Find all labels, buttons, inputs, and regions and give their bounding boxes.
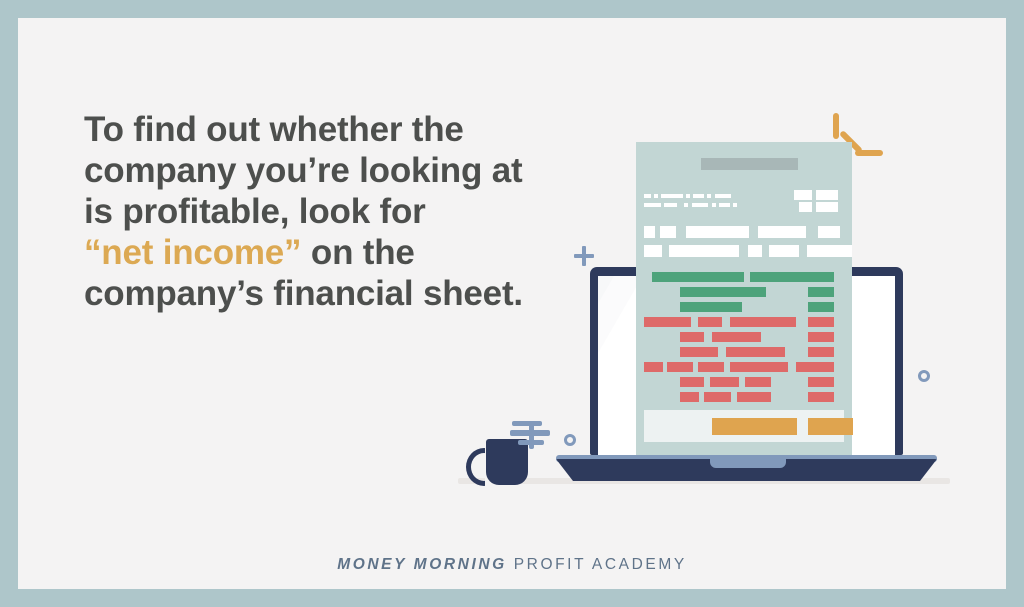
sheet-data-bar-red bbox=[680, 392, 699, 402]
sheet-data-bar-red bbox=[698, 317, 722, 327]
sheet-dash bbox=[644, 194, 651, 198]
sheet-action-button[interactable] bbox=[808, 418, 853, 435]
sheet-dash bbox=[664, 203, 677, 207]
sheet-value-chip-green bbox=[808, 272, 834, 282]
sheet-white-block bbox=[669, 245, 739, 257]
sheet-dash bbox=[707, 194, 711, 198]
spark-line-vertical-icon bbox=[833, 113, 839, 139]
sheet-data-bar-red bbox=[712, 332, 761, 342]
sheet-data-bar-red bbox=[737, 392, 771, 402]
financial-sheet bbox=[636, 142, 852, 458]
spark-line-horizontal-icon bbox=[855, 150, 883, 156]
sheet-dash bbox=[644, 203, 661, 207]
ring-mark-icon-left bbox=[564, 434, 576, 446]
brand-suffix: PROFIT ACADEMY bbox=[514, 556, 687, 573]
sheet-value-chip-green bbox=[808, 302, 834, 312]
sheet-data-bar-red bbox=[704, 392, 731, 402]
sheet-dash bbox=[654, 194, 658, 198]
sheet-data-bar-green bbox=[680, 287, 766, 297]
sheet-data-bar-red bbox=[726, 347, 785, 357]
sheet-dash bbox=[693, 194, 704, 198]
sheet-data-bar-red bbox=[644, 317, 691, 327]
sheet-dash bbox=[684, 203, 688, 207]
plus-mark-icon bbox=[574, 246, 594, 266]
sheet-data-bar-red bbox=[745, 377, 771, 387]
sheet-dash bbox=[712, 203, 716, 207]
sheet-white-block bbox=[748, 245, 762, 257]
sheet-white-block bbox=[644, 226, 655, 238]
sheet-dash bbox=[733, 203, 737, 207]
sheet-data-bar-red bbox=[710, 377, 739, 387]
sheet-value-chip-red bbox=[808, 392, 834, 402]
sheet-value-chip-green bbox=[808, 287, 834, 297]
sheet-dash bbox=[715, 194, 731, 198]
sheet-data-bar-red bbox=[680, 332, 704, 342]
poster-canvas: To find out whether the company you’re l… bbox=[18, 18, 1006, 589]
brand-name: MONEY MORNING bbox=[337, 556, 507, 573]
sheet-value-chip-red bbox=[808, 332, 834, 342]
sheet-header-block bbox=[794, 190, 812, 200]
sheet-action-button[interactable] bbox=[712, 418, 797, 435]
sheet-data-bar-red bbox=[698, 362, 724, 372]
brand-footer: MONEY MORNING PROFIT ACADEMY bbox=[18, 556, 1006, 574]
sheet-value-chip-red bbox=[808, 362, 834, 372]
sheet-white-block bbox=[769, 245, 799, 257]
sheet-data-bar-red bbox=[667, 362, 693, 372]
sheet-header-block bbox=[816, 202, 838, 212]
sheet-data-bar-red bbox=[680, 347, 718, 357]
sheet-value-chip-red bbox=[808, 317, 834, 327]
sheet-white-block bbox=[818, 226, 840, 238]
laptop-trackpad-notch bbox=[710, 459, 786, 468]
sheet-white-block bbox=[644, 245, 662, 257]
sheet-white-block bbox=[660, 226, 676, 238]
sheet-data-bar-red bbox=[644, 362, 663, 372]
steam-icon bbox=[510, 421, 550, 451]
illustration bbox=[18, 18, 1006, 589]
sheet-dash bbox=[661, 194, 683, 198]
sheet-header-block bbox=[816, 190, 838, 200]
sheet-white-block bbox=[686, 226, 749, 238]
ring-mark-icon-right bbox=[918, 370, 930, 382]
sheet-dash bbox=[692, 203, 708, 207]
sheet-title-bar bbox=[701, 158, 798, 170]
sheet-data-bar-red bbox=[680, 377, 704, 387]
sheet-white-block bbox=[758, 226, 806, 238]
sheet-data-bar-green bbox=[680, 302, 742, 312]
sheet-value-chip-red bbox=[808, 347, 834, 357]
sheet-dash bbox=[686, 194, 690, 198]
sheet-data-bar-red bbox=[730, 317, 796, 327]
sheet-white-block bbox=[807, 245, 852, 257]
sheet-header-block bbox=[799, 202, 812, 212]
sheet-data-bar-red bbox=[730, 362, 788, 372]
sheet-dash bbox=[719, 203, 730, 207]
sheet-data-bar-green bbox=[652, 272, 744, 282]
sheet-value-chip-red bbox=[808, 377, 834, 387]
